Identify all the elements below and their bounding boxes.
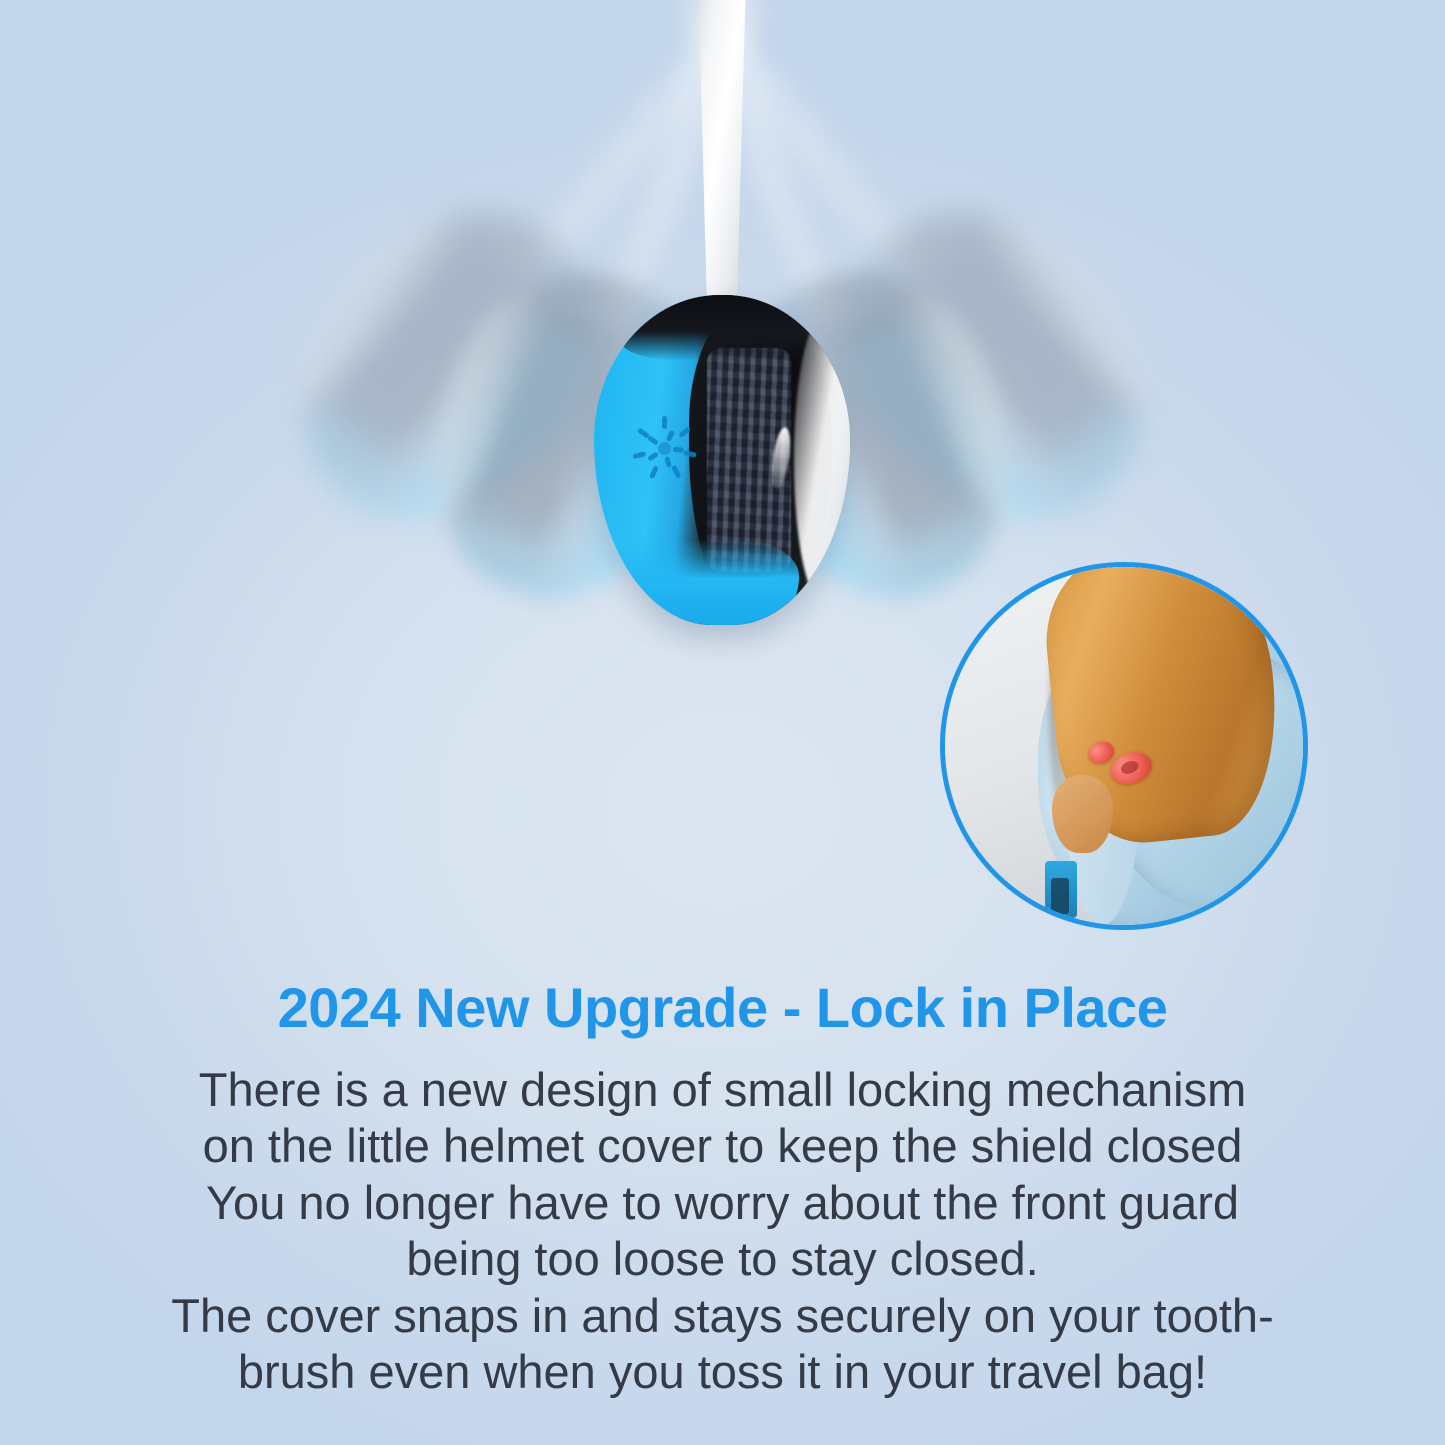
body-line: on the little helmet cover to keep the s…	[28, 1118, 1417, 1174]
body-line: brush even when you toss it in your trav…	[28, 1344, 1417, 1400]
helmet-brow	[620, 295, 835, 361]
helmet-cover	[594, 295, 850, 625]
chrome-rim	[794, 315, 850, 605]
toothbrush-neck	[696, 0, 748, 320]
marketing-copy-block: 2024 New Upgrade - Lock in Place There i…	[0, 960, 1445, 1400]
body-line: There is a new design of small locking m…	[28, 1062, 1417, 1118]
locking-clasp-tip	[1052, 775, 1113, 854]
air-vent-grille-icon	[630, 414, 700, 484]
locking-mechanism-closeup-inset	[940, 562, 1308, 930]
hinge-slot-cavity	[1051, 878, 1069, 914]
body-copy: There is a new design of small locking m…	[0, 1062, 1445, 1400]
page-title: 2024 New Upgrade - Lock in Place	[0, 960, 1445, 1036]
product-feature-image: 2024 New Upgrade - Lock in Place There i…	[0, 0, 1445, 1445]
hero-product-photo	[0, 0, 1445, 960]
body-line: The cover snaps in and stays securely on…	[28, 1288, 1417, 1344]
lower-blue-lip	[599, 539, 799, 625]
body-line: You no longer have to worry about the fr…	[28, 1175, 1417, 1231]
body-line: being too loose to stay closed.	[28, 1231, 1417, 1287]
